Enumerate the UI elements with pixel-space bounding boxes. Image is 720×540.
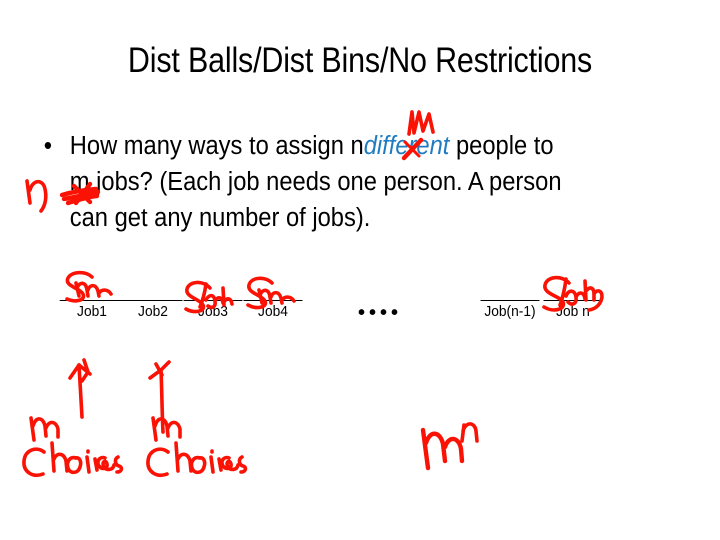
bullet-line-3-text: can get any number of jobs). xyxy=(40,204,370,232)
bullet-line-1: • How many ways to assign ndifferent peo… xyxy=(40,128,635,164)
bullet-line-2: m jobs? (Each job needs one person. A pe… xyxy=(40,164,635,200)
ink-arrow-left xyxy=(70,360,90,417)
line1-suffix-text: people to xyxy=(449,132,553,160)
job-slot-4-label: Job4 xyxy=(258,304,288,320)
ink-m-choices-left xyxy=(24,418,122,475)
line2-struck-letter: m xyxy=(70,168,90,196)
page-title: Dist Balls/Dist Bins/No Restrictions xyxy=(47,40,673,82)
job-slot-n: Job n xyxy=(540,300,607,321)
job-slot-1-rule xyxy=(60,300,125,301)
ink-arrow-right xyxy=(150,362,169,432)
job-slot-2-rule xyxy=(124,300,183,301)
line1-emphasis-text: different xyxy=(364,132,450,160)
job-slot-3-label: Job3 xyxy=(198,304,228,320)
body-placeholder: • How many ways to assign ndifferent peo… xyxy=(40,128,680,236)
job-slot-2: Job2 xyxy=(120,300,187,321)
job-slot-3: Job3 xyxy=(180,300,247,321)
bullet-marker-icon: • xyxy=(44,128,52,164)
line2-rest-text: jobs? (Each job needs one person. A pers… xyxy=(90,168,562,196)
job-slot-n-label: Job n xyxy=(556,304,590,320)
ellipsis-separator: •••• xyxy=(358,303,402,323)
job-slot-n-minus-1: Job(n-1) xyxy=(470,300,550,321)
bullet-line-2-text: m jobs? (Each job needs one person. A pe… xyxy=(40,168,562,196)
bullet-line-1-text: How many ways to assign ndifferent peopl… xyxy=(40,132,554,160)
ink-m-choices-right xyxy=(148,418,246,475)
bullet-line-3: can get any number of jobs). xyxy=(40,200,635,236)
job-slot-n-minus-1-rule xyxy=(481,300,540,301)
ink-answer-m-to-the-n xyxy=(423,424,477,468)
job-slot-n-minus-1-label: Job(n-1) xyxy=(484,304,535,320)
job-slot-1-label: Job1 xyxy=(77,304,107,320)
job-slot-1: Job1 xyxy=(59,300,126,321)
job-slot-4-rule xyxy=(244,300,303,301)
slide-canvas: Dist Balls/Dist Bins/No Restrictions • H… xyxy=(0,0,720,540)
job-slot-2-label: Job2 xyxy=(138,304,168,320)
job-slot-3-rule xyxy=(184,300,243,301)
ink-name-job1 xyxy=(67,273,111,301)
line1-struck-letter: n xyxy=(351,132,364,160)
line1-prefix-text: How many ways to assign xyxy=(70,132,351,160)
job-slot-4: Job4 xyxy=(240,300,307,321)
job-slot-n-rule xyxy=(544,300,603,301)
